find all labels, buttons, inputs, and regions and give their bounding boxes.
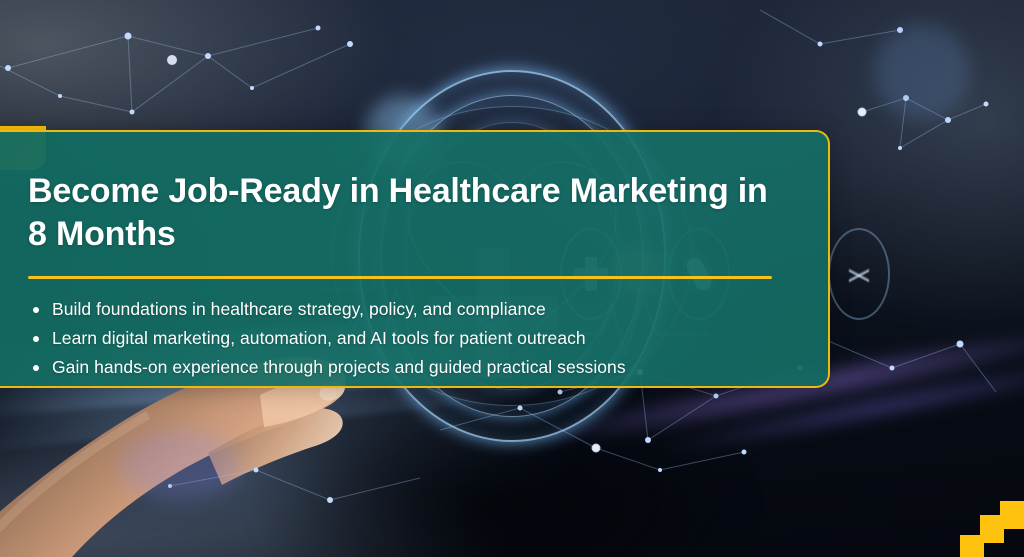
list-item: Gain hands-on experience through project… [28,353,828,382]
list-item: Learn digital marketing, automation, and… [28,324,828,353]
gold-staircase-accent-bottom-right [960,501,1024,557]
feature-list: Build foundations in healthcare strategy… [28,295,828,382]
gold-divider [28,276,772,279]
page-title: Become Job-Ready in Healthcare Marketing… [28,170,788,256]
content-card: Become Job-Ready in Healthcare Marketing… [0,130,830,388]
healthcare-marketing-banner: Become Job-Ready in Healthcare Marketing… [0,0,1024,557]
list-item: Build foundations in healthcare strategy… [28,295,828,324]
staircase-step-3 [960,535,984,557]
